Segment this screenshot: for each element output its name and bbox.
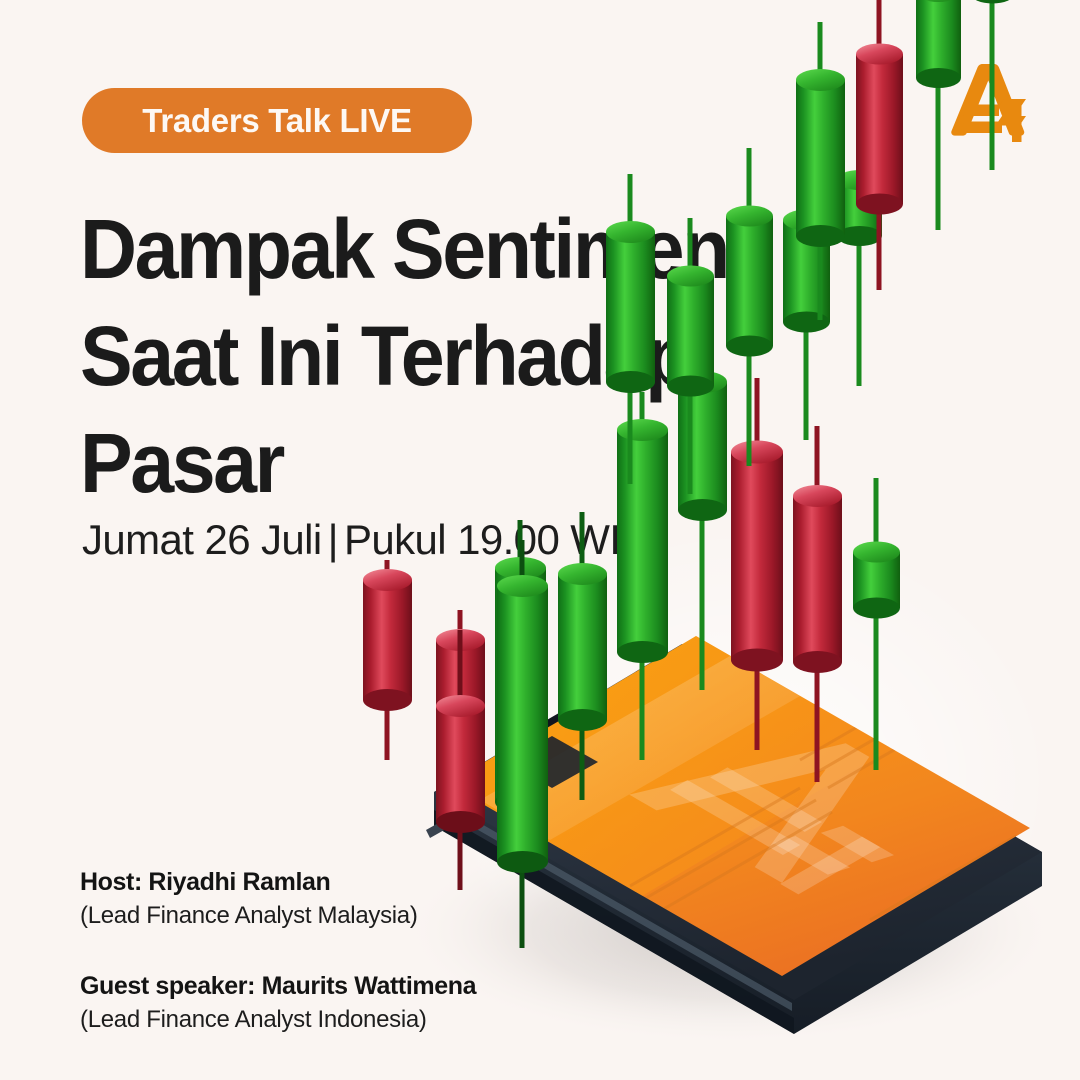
candle-18-down bbox=[856, 0, 903, 290]
credit-guest: Guest speaker: Maurits Wattimena (Lead F… bbox=[80, 970, 476, 1036]
candle-1-down bbox=[363, 560, 412, 760]
headline-line-1: Dampak Sentimen bbox=[80, 196, 757, 303]
live-badge: Traders Talk LIVE bbox=[82, 88, 472, 153]
credits-block: Host: Riyadhi Ramlan (Lead Finance Analy… bbox=[80, 866, 476, 1036]
credit-guest-role: (Lead Finance Analyst Indonesia) bbox=[80, 1003, 476, 1036]
credit-host: Host: Riyadhi Ramlan (Lead Finance Analy… bbox=[80, 866, 476, 932]
live-badge-label: Traders Talk LIVE bbox=[142, 102, 411, 140]
credit-host-name: Host: Riyadhi Ramlan bbox=[80, 866, 476, 899]
candle-9-up bbox=[853, 478, 900, 770]
poster-canvas: Traders Talk LIVE Dampak Sentimen Saat I… bbox=[0, 0, 1080, 1080]
credit-guest-name: Guest speaker: Maurits Wattimena bbox=[80, 970, 476, 1003]
credit-host-role: (Lead Finance Analyst Malaysia) bbox=[80, 899, 476, 932]
schedule-date: Jumat 26 Juli bbox=[82, 516, 322, 563]
